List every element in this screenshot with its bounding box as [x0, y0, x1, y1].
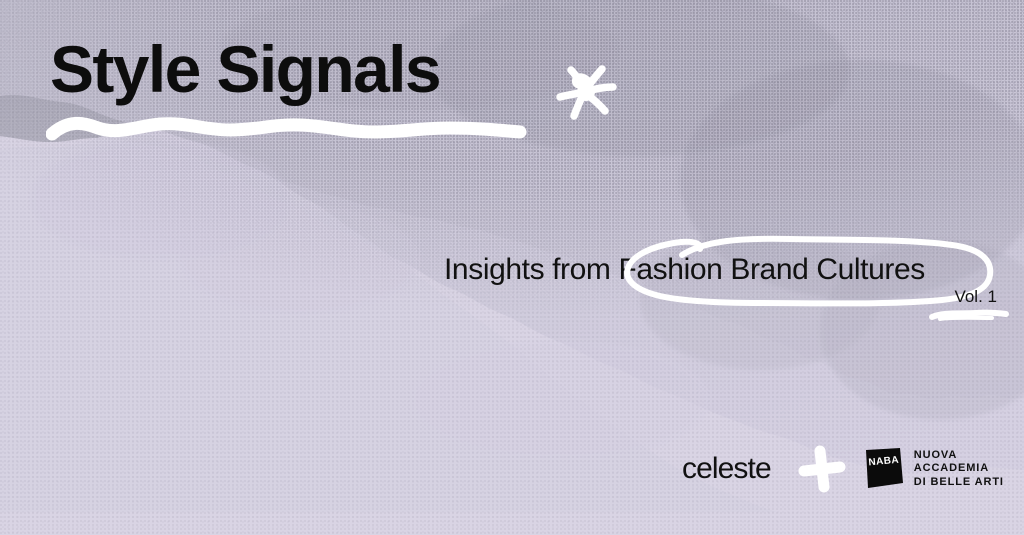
footer-logo-row: celeste NABA NUOVA ACCADEMIA DI BELLE AR…	[682, 440, 1004, 498]
brush-underline-icon	[46, 104, 546, 144]
subtitle-lead: Insights from	[444, 253, 618, 286]
naba-wordmark-line-2: ACCADEMIA	[914, 462, 1004, 476]
brush-underline-icon	[926, 305, 1010, 325]
naba-wordmark: NUOVA ACCADEMIA DI BELLE ARTI	[914, 449, 1004, 490]
volume-block: Vol. 1	[900, 286, 1010, 326]
sparkle-asterisk-icon	[550, 58, 622, 124]
celeste-logo: celeste	[682, 452, 771, 486]
cover-canvas: Style Signals Insights from Fashion Bran…	[0, 0, 1024, 535]
naba-wordmark-line-1: NUOVA	[914, 449, 1004, 463]
title-block: Style Signals	[50, 32, 670, 142]
plus-icon	[793, 440, 851, 498]
page-title: Style Signals	[50, 32, 440, 106]
naba-logo: NABA NUOVA ACCADEMIA DI BELLE ARTI	[865, 448, 1004, 490]
naba-mark-icon: NABA	[865, 448, 905, 490]
naba-wordmark-line-3: DI BELLE ARTI	[914, 476, 1004, 490]
